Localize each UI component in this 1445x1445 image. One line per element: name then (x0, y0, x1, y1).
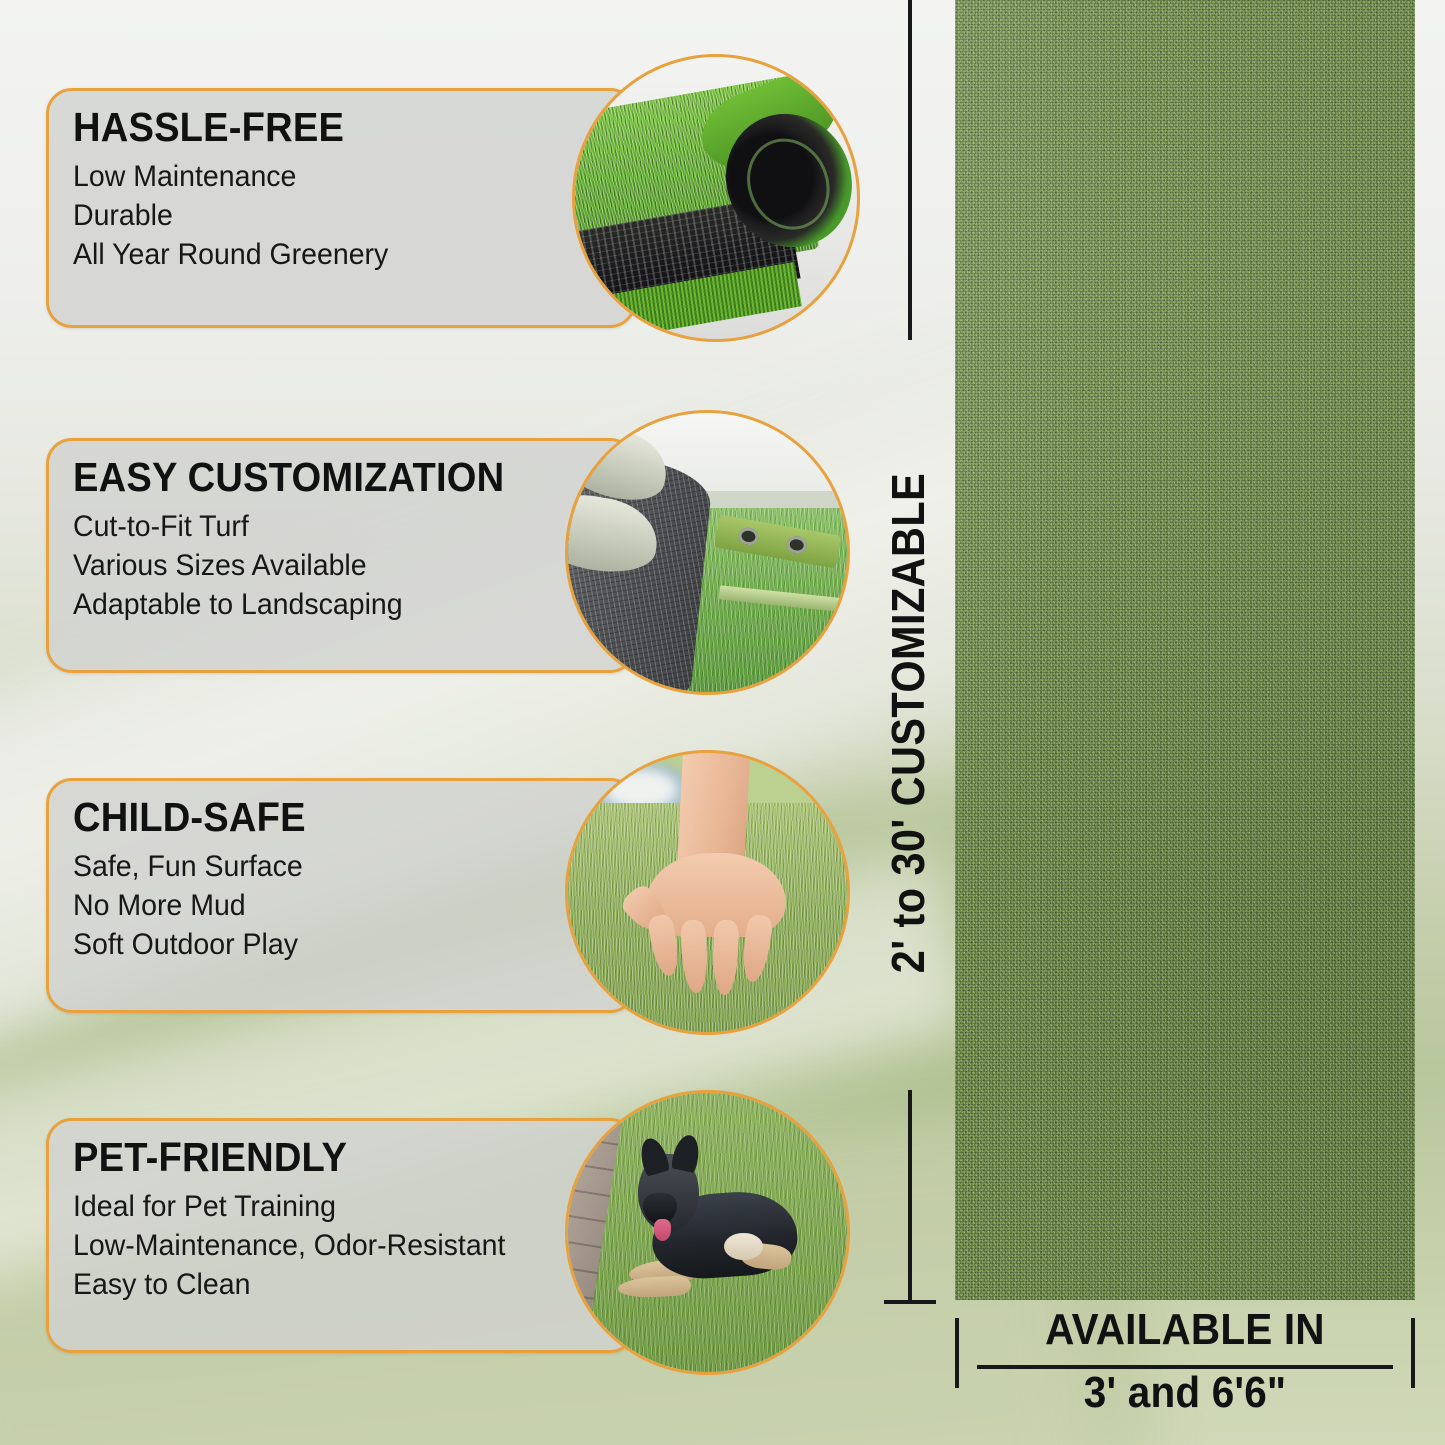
feature-line: Soft Outdoor Play (73, 925, 582, 964)
feature-title: CHILD-SAFE (73, 797, 571, 838)
turf-sheen (955, 0, 1415, 1300)
length-dimension-line-bottom (908, 1090, 912, 1302)
child-hand-on-turf-photo (565, 750, 850, 1035)
available-in-label: AVAILABLE IN (1045, 1308, 1325, 1352)
feature-line: Low-Maintenance, Odor-Resistant (73, 1226, 582, 1265)
infographic-canvas: HASSLE-FREE Low Maintenance Durable All … (0, 0, 1445, 1445)
installing-turf-photo (565, 410, 850, 695)
feature-line: Cut-to-Fit Turf (73, 507, 582, 546)
feature-line: All Year Round Greenery (73, 235, 582, 274)
available-sizes-block: AVAILABLE IN 3' and 6'6" (955, 1308, 1415, 1433)
feature-line: Durable (73, 196, 582, 235)
rolled-turf-photo (572, 54, 860, 342)
feature-card-child-safe[interactable]: CHILD-SAFE Safe, Fun Surface No More Mud… (46, 778, 636, 1013)
dog-on-turf-photo (565, 1090, 850, 1375)
length-dimension-label: 2' to 30' CUSTOMIZABLE (881, 445, 935, 1001)
feature-card-pet-friendly[interactable]: PET-FRIENDLY Ideal for Pet Training Low-… (46, 1118, 636, 1353)
photo-clip (575, 57, 857, 339)
feature-line: No More Mud (73, 886, 582, 925)
available-in-line: AVAILABLE IN (955, 1308, 1415, 1352)
feature-card-easy-customization[interactable]: EASY CUSTOMIZATION Cut-to-Fit Turf Vario… (46, 438, 636, 673)
feature-line: Ideal for Pet Training (73, 1187, 582, 1226)
available-sizes-line: 3' and 6'6" (955, 1370, 1415, 1416)
length-dimension-label-text: 2' to 30' CUSTOMIZABLE (881, 473, 935, 973)
feature-card-hassle-free[interactable]: HASSLE-FREE Low Maintenance Durable All … (46, 88, 636, 328)
feature-title: PET-FRIENDLY (73, 1137, 571, 1178)
feature-line: Adaptable to Landscaping (73, 585, 582, 624)
length-dimension-line-top (908, 0, 912, 340)
feature-line: Various Sizes Available (73, 546, 582, 585)
feature-title: EASY CUSTOMIZATION (73, 457, 571, 498)
photo-clip (568, 413, 847, 692)
available-sizes-label: 3' and 6'6" (1084, 1370, 1286, 1416)
photo-clip (568, 1093, 847, 1372)
feature-line: Safe, Fun Surface (73, 847, 582, 886)
photo-clip (568, 753, 847, 1032)
feature-title: HASSLE-FREE (73, 107, 571, 148)
feature-line: Easy to Clean (73, 1265, 582, 1304)
length-dimension-end-tick (884, 1300, 936, 1304)
turf-swatch-panel (955, 0, 1415, 1300)
feature-line: Low Maintenance (73, 157, 582, 196)
